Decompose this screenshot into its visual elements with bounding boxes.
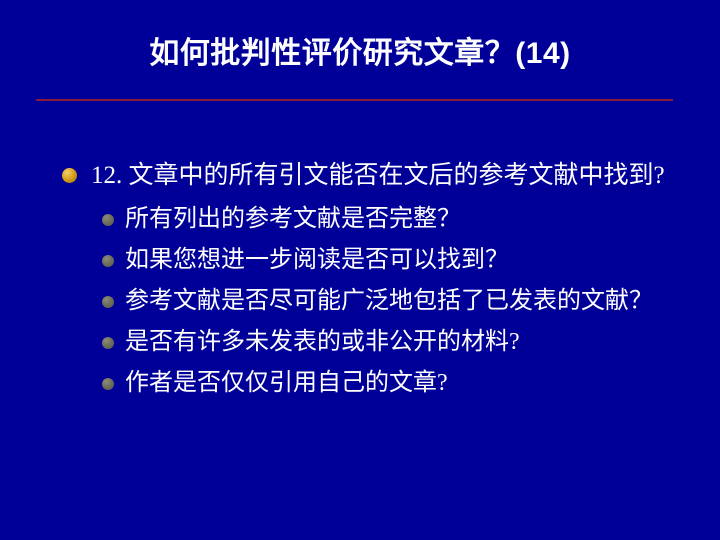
gold-sphere-bullet-icon — [62, 168, 77, 183]
level1-item-label: 12. 文章中的所有引文能否在文后的参考文献中找到? — [91, 158, 666, 193]
list-item: 参考文献是否尽可能广泛地包括了已发表的文献？ — [58, 281, 666, 321]
title-divider-rule — [36, 99, 673, 101]
level2-item-label: 参考文献是否尽可能广泛地包括了已发表的文献？ — [125, 281, 666, 321]
gray-sphere-bullet-icon — [102, 214, 114, 226]
page-title: 如何批判性评价研究文章？(14) — [149, 34, 570, 74]
level2-item-label: 是否有许多未发表的或非公开的材料? — [125, 322, 666, 362]
sub-bullet-list: 所有列出的参考文献是否完整？ 如果您想进一步阅读是否可以找到？ 参考文献是否尽可… — [58, 199, 666, 403]
gray-sphere-bullet-icon — [102, 378, 114, 390]
list-item: 12. 文章中的所有引文能否在文后的参考文献中找到? — [58, 158, 666, 193]
level2-item-label: 如果您想进一步阅读是否可以找到？ — [125, 240, 666, 280]
gray-sphere-bullet-icon — [102, 255, 114, 267]
list-item: 是否有许多未发表的或非公开的材料? — [58, 322, 666, 362]
slide-title-block: 如何批判性评价研究文章？(14) — [0, 34, 720, 74]
list-item: 作者是否仅仅引用自己的文章? — [58, 363, 666, 403]
level2-item-label: 作者是否仅仅引用自己的文章? — [125, 363, 666, 403]
slide-body: 12. 文章中的所有引文能否在文后的参考文献中找到? 所有列出的参考文献是否完整… — [58, 158, 666, 404]
list-item: 如果您想进一步阅读是否可以找到？ — [58, 240, 666, 280]
gray-sphere-bullet-icon — [102, 337, 114, 349]
level2-item-label: 所有列出的参考文献是否完整？ — [125, 199, 666, 239]
list-item: 所有列出的参考文献是否完整？ — [58, 199, 666, 239]
gray-sphere-bullet-icon — [102, 296, 114, 308]
presentation-slide: 如何批判性评价研究文章？(14) 12. 文章中的所有引文能否在文后的参考文献中… — [0, 0, 720, 540]
